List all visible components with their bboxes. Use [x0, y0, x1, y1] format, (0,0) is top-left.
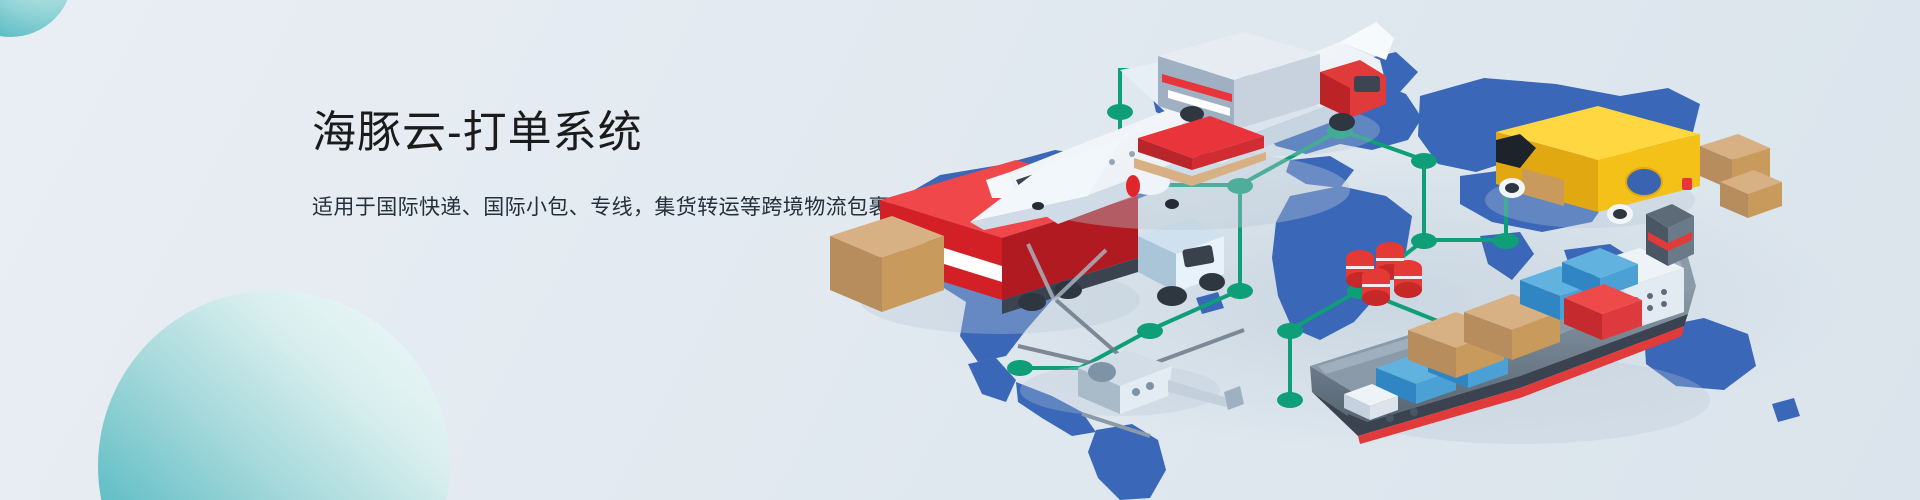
delivery-van-icon [1485, 106, 1782, 228]
hero-banner: 海豚云-打单系统 适用于国际快递、国际小包、专线，集货转运等跨境物流包裹处理 [0, 0, 1920, 500]
decorative-circle-bottom-left [98, 290, 450, 500]
decorative-circle-top-left [0, 0, 73, 37]
hero-illustration [820, 0, 1920, 500]
